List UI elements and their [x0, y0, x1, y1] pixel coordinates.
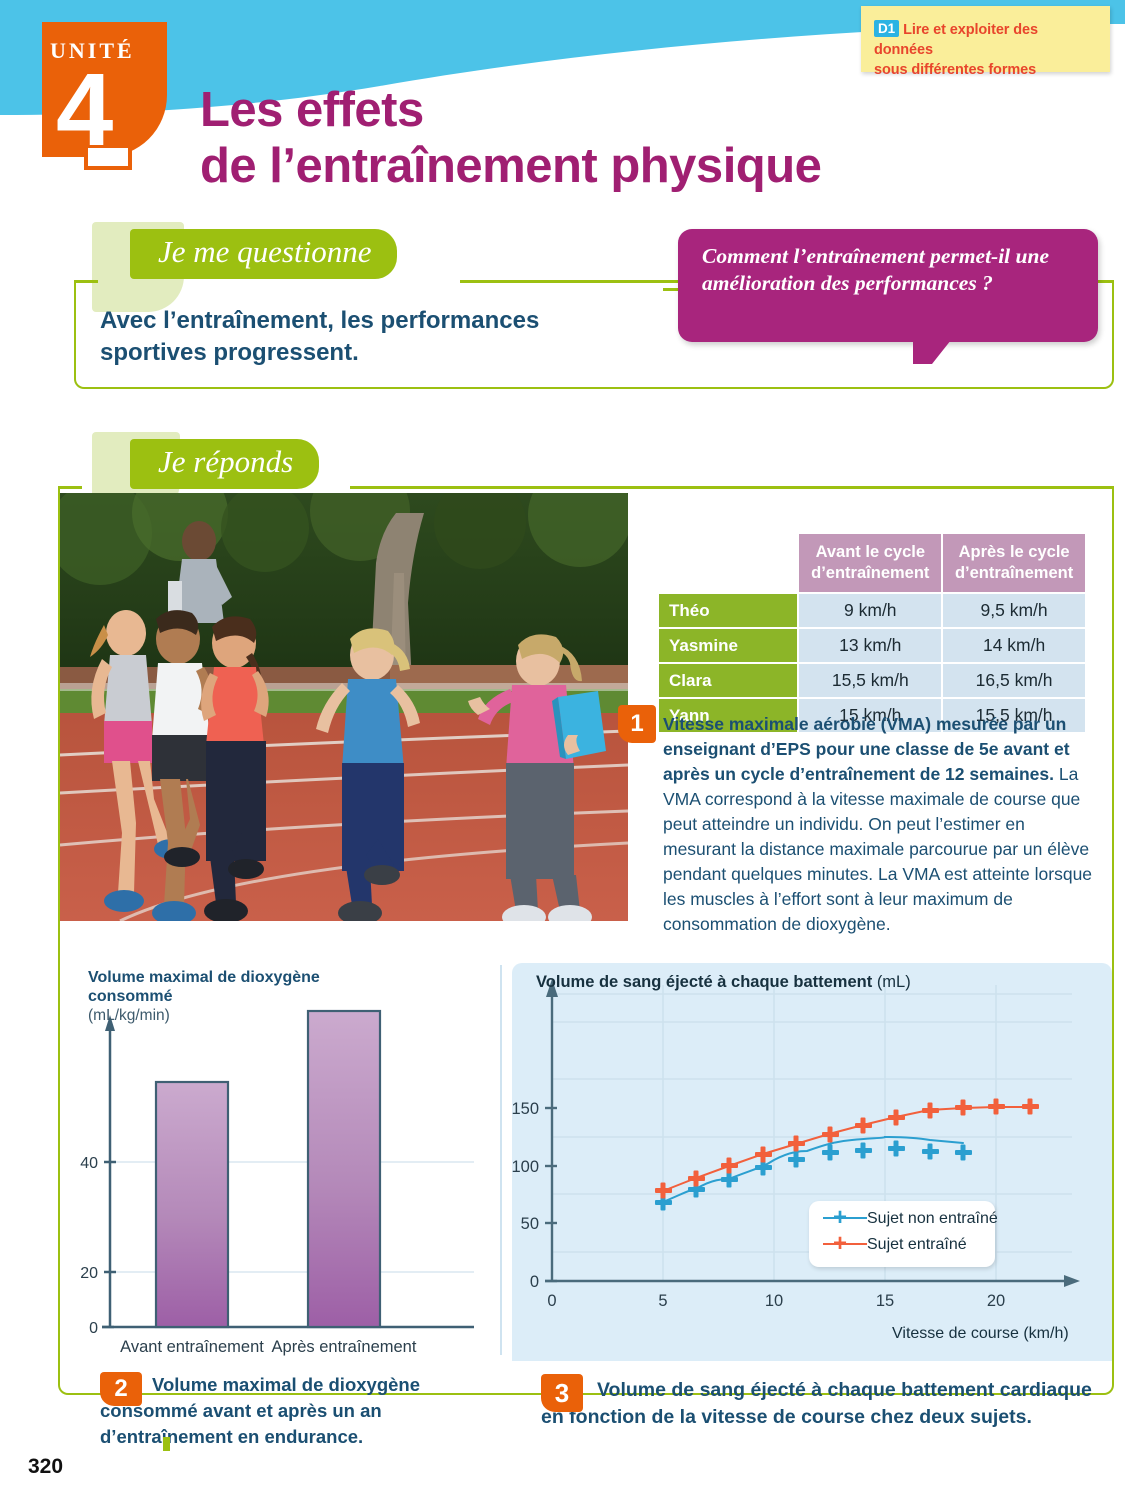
- svg-text:20: 20: [987, 1292, 1005, 1310]
- table-corner-cell: [659, 534, 797, 592]
- table-header-before: Avant le cycle d’entraînement: [799, 534, 941, 592]
- bar-chart-figure: Volume maximal de dioxygène consommé (mL…: [74, 963, 494, 1358]
- textbook-page: D1Lire et exploiter des données sous dif…: [0, 0, 1125, 1500]
- doc1-caption: Vitesse maximale aérobie (VMA) mesurée p…: [663, 712, 1093, 937]
- table-cell-name: Clara: [659, 664, 797, 697]
- questionne-statement: Avec l’entraînement, les performances sp…: [100, 305, 620, 369]
- table-cell-before: 15,5 km/h: [799, 664, 941, 697]
- table-header-after: Après le cycle d’entraînement: [943, 534, 1085, 592]
- page-title: Les effets de l’entraînement physique: [200, 82, 1000, 194]
- table-cell-name: Théo: [659, 594, 797, 627]
- svg-text:100: 100: [512, 1158, 539, 1176]
- line-chart-title: Volume de sang éjecté à chaque battement…: [536, 972, 956, 993]
- table-cell-after: 9,5 km/h: [943, 594, 1085, 627]
- legend-label-trained: Sujet entraîné: [867, 1236, 967, 1253]
- legend-entry-untrained: + Sujet non entraîné: [823, 1210, 998, 1228]
- doc3-caption: Volume de sang éjecté à chaque battement…: [541, 1377, 1096, 1431]
- page-number: 320: [28, 1455, 63, 1479]
- table-header-row: Avant le cycle d’entraînement Après le c…: [659, 534, 1085, 592]
- table-row: Théo 9 km/h 9,5 km/h: [659, 594, 1085, 627]
- line-chart-title-unit: (mL): [877, 973, 911, 991]
- section-tab-questionne: Je me questionne: [130, 229, 397, 279]
- page-title-line-1: Les effets: [200, 82, 1000, 138]
- question-bubble-text: Comment l’entraînement permet-il une amé…: [702, 243, 1082, 297]
- plus-marker-icon: +: [823, 1236, 867, 1252]
- svg-text:Après entraînement: Après entraînement: [272, 1338, 417, 1356]
- bar-chart-title-text: Volume maximal de dioxygène consommé: [88, 969, 320, 1005]
- line-chart-figure: Volume de sang éjecté à chaque battement…: [512, 963, 1112, 1361]
- page-title-line-2: de l’entraînement physique: [200, 138, 1000, 194]
- svg-text:0: 0: [547, 1292, 556, 1310]
- line-chart-xlabel: Vitesse de course (km/h): [892, 1325, 1069, 1343]
- table-cell-after: 16,5 km/h: [943, 664, 1085, 697]
- unit-number: 4: [56, 58, 176, 161]
- svg-text:Avant entraînement: Avant entraînement: [120, 1338, 264, 1356]
- doc-badge-1: 1: [618, 705, 656, 743]
- competency-line-1: D1Lire et exploiter des données: [874, 20, 1100, 60]
- table-row: Yasmine 13 km/h 14 km/h: [659, 629, 1085, 662]
- svg-text:150: 150: [512, 1100, 539, 1118]
- table-cell-name: Yasmine: [659, 629, 797, 662]
- doc-badge-3: 3: [541, 1374, 583, 1412]
- doc1-caption-bold: Vitesse maximale aérobie (VMA) mesurée p…: [663, 714, 1070, 784]
- svg-text:0: 0: [530, 1273, 539, 1291]
- line-chart-plot: 0 50 100 150 0 5 10 15 20: [512, 963, 1112, 1323]
- legend-entry-trained: + Sujet entraîné: [823, 1236, 967, 1254]
- svg-text:40: 40: [80, 1155, 98, 1172]
- series-sujet-entraine: [655, 1099, 1039, 1199]
- doc1-caption-rest: La VMA correspond à la vitesse maximale …: [663, 764, 1092, 934]
- chart-divider: [500, 965, 502, 1355]
- legend-label-untrained: Sujet non entraîné: [867, 1210, 998, 1227]
- photo-illustration: [60, 493, 628, 921]
- question-bubble-tail: [913, 340, 951, 364]
- competency-line-2: sous différentes formes: [874, 60, 1100, 80]
- bar-chart-title: Volume maximal de dioxygène consommé (mL…: [88, 968, 388, 1025]
- vma-table: Avant le cycle d’entraînement Après le c…: [657, 532, 1087, 734]
- competency-sticky-note: D1Lire et exploiter des données sous dif…: [861, 6, 1110, 72]
- doc2-caption: Volume maximal de dioxygène consommé ava…: [100, 1372, 480, 1450]
- table-cell-after: 14 km/h: [943, 629, 1085, 662]
- series-sujet-non-entraine: [655, 1137, 972, 1211]
- line-chart-title-text: Volume de sang éjecté à chaque battement: [536, 973, 872, 991]
- table-cell-before: 13 km/h: [799, 629, 941, 662]
- line-chart-xlabel-unit: (km/h): [1023, 1325, 1068, 1342]
- track-runners-photo: [60, 493, 628, 921]
- svg-text:15: 15: [876, 1292, 894, 1310]
- svg-text:10: 10: [765, 1292, 783, 1310]
- svg-text:5: 5: [658, 1292, 667, 1310]
- bar-chart-unit: (mL/kg/min): [88, 1007, 170, 1024]
- table-row: Clara 15,5 km/h 16,5 km/h: [659, 664, 1085, 697]
- line-chart-xlabel-text: Vitesse de course: [892, 1325, 1019, 1342]
- svg-text:50: 50: [521, 1215, 539, 1233]
- doc-badge-2: 2: [100, 1372, 142, 1406]
- svg-text:20: 20: [80, 1265, 98, 1282]
- svg-text:0: 0: [89, 1320, 98, 1337]
- plus-marker-icon: +: [823, 1210, 867, 1226]
- section-tab-reponds: Je réponds: [130, 439, 319, 489]
- line-chart-legend: + Sujet non entraîné + Sujet entraîné: [809, 1201, 995, 1267]
- table-cell-before: 9 km/h: [799, 594, 941, 627]
- d1-badge: D1: [874, 20, 899, 37]
- footer-green-mark: [163, 1437, 170, 1451]
